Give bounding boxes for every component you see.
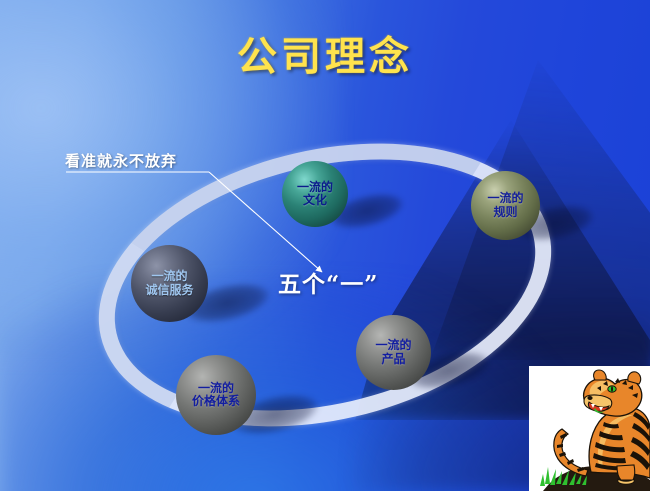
sphere-rules[interactable]: 一流的 规则 <box>471 171 540 240</box>
sphere-product-line1: 一流的 <box>375 339 411 352</box>
sphere-price-line1: 一流的 <box>198 382 234 395</box>
tiger-illustration <box>529 366 650 491</box>
sphere-service-line2: 诚信服务 <box>145 284 193 297</box>
center-caption: 五个“一” <box>278 265 378 299</box>
sphere-rules-line2: 规则 <box>493 206 517 219</box>
tiger-pupil <box>611 386 613 391</box>
sphere-culture[interactable]: 一流的 文化 <box>282 161 348 227</box>
sphere-culture-line1: 一流的 <box>297 181 333 194</box>
sphere-service-line1: 一流的 <box>151 270 187 283</box>
slide-canvas: 公司理念 一流的 文化 一流的 规则 一流的 诚信服务 一流的 价格体系 一流的… <box>0 0 650 491</box>
sphere-product[interactable]: 一流的 产品 <box>356 315 431 390</box>
callout-label: 看准就永不放弃 <box>65 150 177 171</box>
sphere-product-line2: 产品 <box>381 353 405 366</box>
sphere-rules-line1: 一流的 <box>487 192 523 205</box>
tiger-picture[interactable] <box>529 366 650 491</box>
tiger-foreleg <box>617 465 635 480</box>
slide-title: 公司理念 <box>0 24 650 82</box>
tiger-nose <box>587 396 592 400</box>
sphere-service[interactable]: 一流的 诚信服务 <box>131 245 208 322</box>
sphere-culture-line2: 文化 <box>303 194 327 207</box>
sphere-price[interactable]: 一流的 价格体系 <box>176 355 256 435</box>
sphere-price-line2: 价格体系 <box>192 395 240 408</box>
